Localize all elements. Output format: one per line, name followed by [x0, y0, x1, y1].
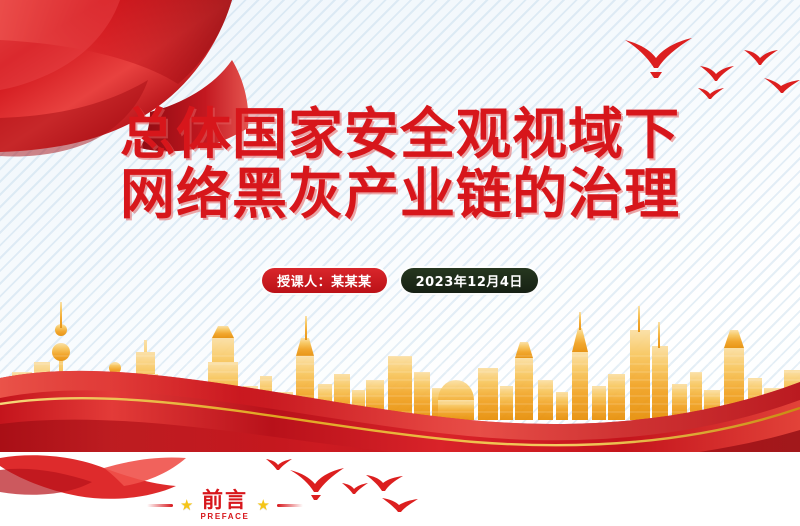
- golden-city-skyline: [0, 0, 800, 526]
- ribbon-bottom-wave: [0, 0, 800, 526]
- title-line-1: 总体国家安全观视域下: [0, 104, 800, 164]
- presenter-badge: 授课人：某某某: [262, 268, 387, 293]
- star-icon-right: ★: [257, 498, 270, 513]
- badge-row: 授课人：某某某 2023年12月4日: [0, 268, 800, 293]
- footer-dash-right: [277, 504, 303, 507]
- star-icon-left: ★: [180, 498, 193, 513]
- presentation-cover-slide: 总体国家安全观视域下 网络黑灰产业链的治理 授课人：某某某 2023年12月4日…: [0, 0, 800, 526]
- footer-text: 前言 PREFACE: [201, 490, 250, 521]
- ribbon-top-left: [0, 0, 800, 526]
- footer-preface: ★ 前言 PREFACE ★: [120, 484, 330, 526]
- title-block: 总体国家安全观视域下 网络黑灰产业链的治理: [0, 104, 800, 224]
- date-badge: 2023年12月4日: [401, 268, 538, 293]
- footer-title-en: PREFACE: [201, 513, 250, 521]
- footer-dash-left: [147, 504, 173, 507]
- birds-bottom: [0, 0, 800, 526]
- footer-title-cn: 前言: [202, 490, 248, 511]
- birds-top-right: [0, 0, 800, 526]
- title-line-2: 网络黑灰产业链的治理: [0, 164, 800, 224]
